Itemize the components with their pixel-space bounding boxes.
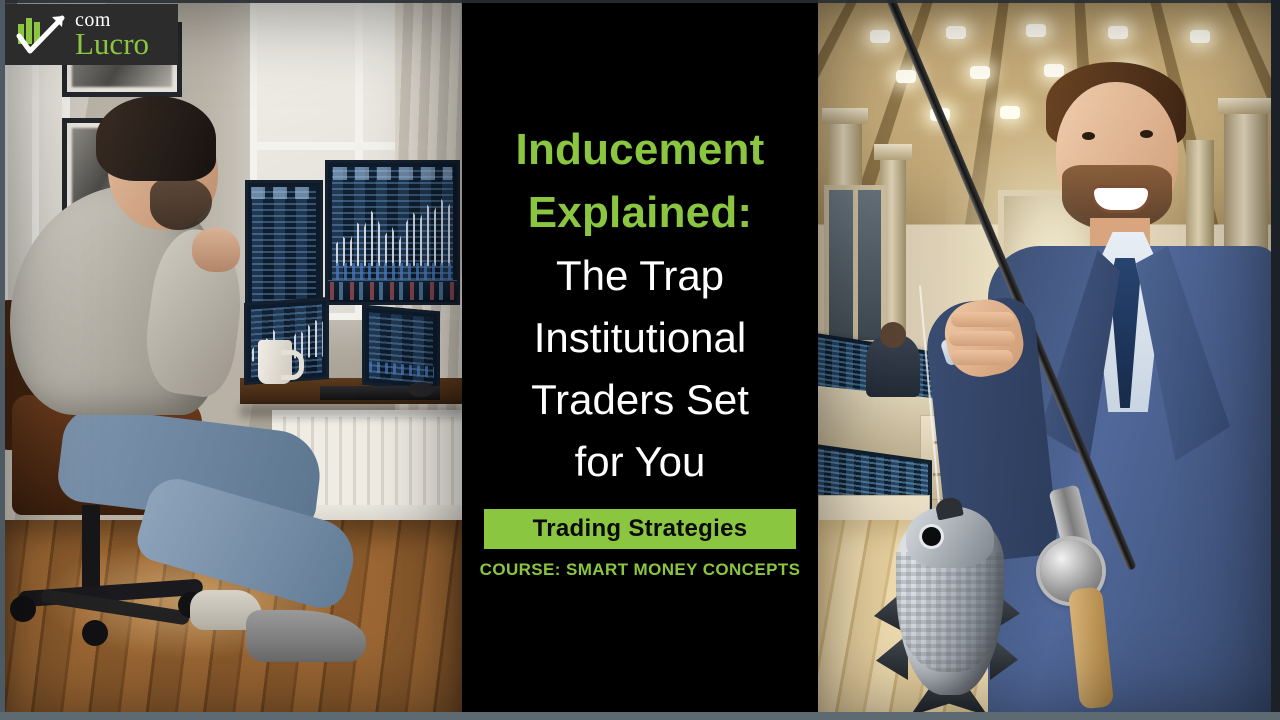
finger — [949, 331, 1015, 346]
desk-shadow — [240, 404, 462, 418]
fish-eye — [922, 527, 941, 546]
frame-edge-top — [0, 0, 1280, 3]
column-capital — [874, 144, 912, 160]
bar-chart-checkmark-icon — [16, 12, 68, 57]
title-line-green-1: Inducement — [516, 118, 765, 181]
title-line-white-3: Traders Set — [531, 370, 749, 430]
title-line-green-2: Explained: — [528, 181, 753, 244]
ceiling-light — [896, 70, 916, 83]
frame-edge-bottom — [0, 712, 1280, 720]
ceiling-light — [1026, 24, 1046, 37]
coffee-mug — [258, 340, 292, 384]
frame-edge-right — [1271, 0, 1280, 720]
ceiling-light — [946, 26, 966, 39]
title-line-white-1: The Trap — [556, 246, 724, 306]
title-line-white-2: Institutional — [534, 308, 746, 368]
ceiling-light — [970, 66, 990, 79]
finger — [951, 350, 1013, 365]
brand-wordmark: com Lucro — [75, 10, 149, 59]
ceiling-light — [1044, 64, 1064, 77]
man-smile — [1094, 188, 1148, 210]
chair-post — [82, 505, 100, 595]
ceiling-light — [1000, 106, 1020, 119]
person-hair — [96, 96, 216, 181]
monitor-candlestick-chart — [325, 160, 460, 305]
frame-edge-left — [0, 0, 5, 720]
category-badge: Trading Strategies — [484, 509, 796, 549]
man-eye — [1082, 132, 1095, 140]
laptop-screen-right — [362, 305, 440, 392]
trader-head — [880, 322, 906, 348]
ceiling-light — [1108, 26, 1128, 39]
title-panel: Inducement Explained: The Trap Instituti… — [462, 0, 818, 720]
course-label: COURSE: SMART MONEY CONCEPTS — [480, 560, 801, 580]
column-capital — [1218, 98, 1274, 114]
person-hand — [192, 228, 240, 272]
ceiling-light — [1190, 30, 1210, 43]
finger — [951, 312, 1015, 327]
chair-wheel — [10, 596, 36, 622]
ticker-tape — [328, 280, 457, 302]
chair-wheel — [82, 620, 108, 646]
mouse — [408, 382, 434, 397]
ceiling-light — [870, 30, 890, 43]
brand-logo[interactable]: com Lucro — [5, 4, 178, 65]
video-thumbnail: Inducement Explained: The Trap Instituti… — [0, 0, 1280, 720]
brand-name-bottom: Lucro — [75, 28, 149, 59]
right-scene-institutional-trader — [818, 0, 1280, 720]
left-scene-retail-trader — [0, 0, 462, 720]
hall-window — [824, 185, 886, 345]
column-capital — [822, 108, 868, 124]
title-line-white-4: for You — [575, 432, 706, 492]
fish-scales — [896, 552, 1004, 672]
man-eye — [1140, 130, 1153, 138]
